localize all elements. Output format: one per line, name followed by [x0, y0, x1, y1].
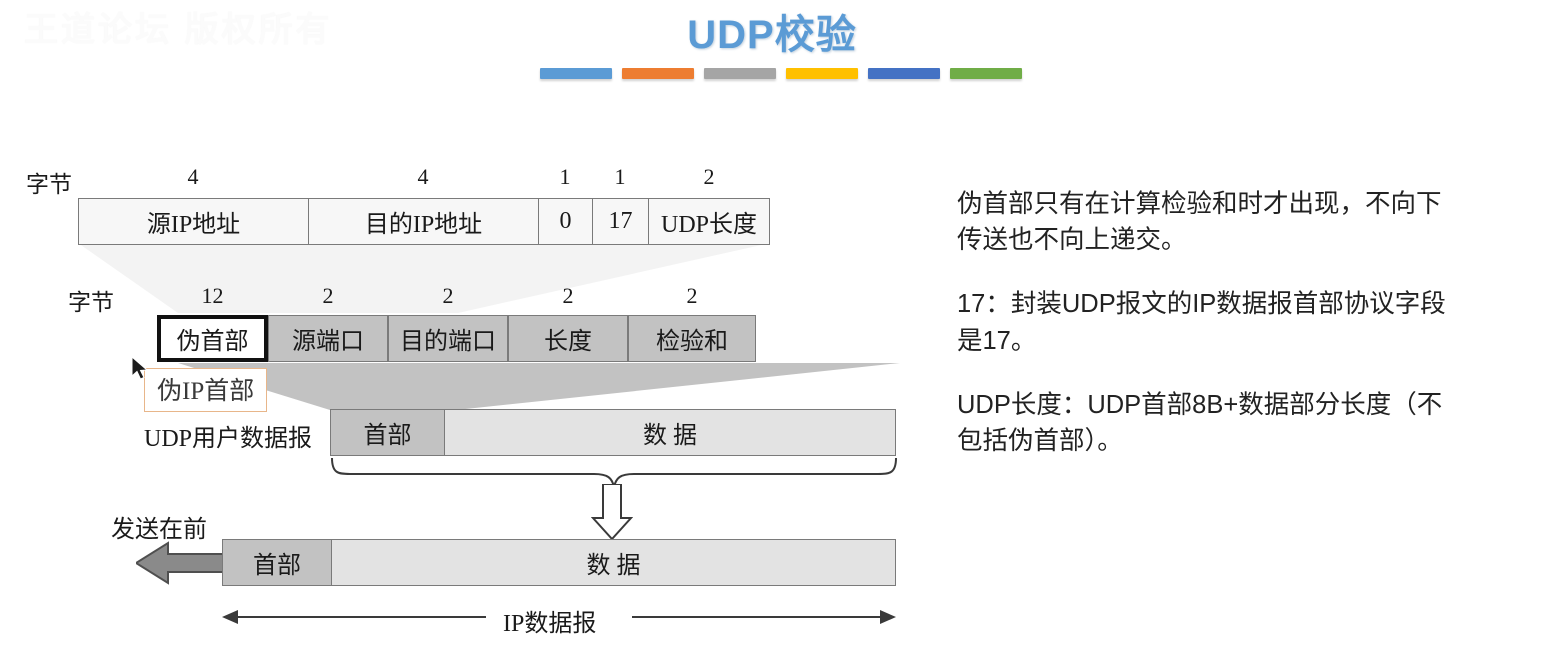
- pseudo-byte-count-2: 4: [308, 164, 538, 190]
- pseudo-cell-protocol-17: 17: [592, 198, 649, 245]
- udp-user-datagram-header-cell: 首部: [330, 409, 445, 456]
- notes-panel: 伪首部只有在计算检验和时才出现，不向下传送也不向上递交。 17：封装UDP报文的…: [957, 186, 1462, 459]
- udp-cell-pseudo-header[interactable]: 伪首部: [157, 315, 268, 362]
- pseudo-byte-count-1: 4: [78, 164, 308, 190]
- title-decorative-bars: [540, 68, 1022, 80]
- note-paragraph-2: 17：封装UDP报文的IP数据报首部协议字段是17。: [957, 286, 1462, 358]
- mouse-cursor-icon: [131, 356, 151, 384]
- pseudo-byte-count-4: 1: [592, 164, 648, 190]
- title-bar-4: [786, 68, 858, 79]
- pseudo-cell-dest-ip: 目的IP地址: [308, 198, 539, 245]
- pseudo-ip-header-tooltip: 伪IP首部: [144, 368, 267, 412]
- page-title: UDP校验: [0, 2, 1544, 60]
- title-bar-6: [950, 68, 1022, 79]
- ip-datagram-data-cell: 数 据: [331, 539, 896, 586]
- title-bar-1: [540, 68, 612, 79]
- udp-user-datagram-label: UDP用户数据报: [144, 418, 312, 453]
- down-arrow-icon: [591, 484, 633, 540]
- udp-byte-count-5: 2: [628, 283, 756, 309]
- udp-byte-count-2: 2: [268, 283, 388, 309]
- note-paragraph-1: 伪首部只有在计算检验和时才出现，不向下传送也不向上递交。: [957, 186, 1462, 258]
- slide-canvas: 王道论坛 版权所有 UDP校验 字节 4 4 1 1 2 源IP地址 目的IP地…: [0, 0, 1544, 668]
- udp-datagram-byte-label: 字节: [68, 283, 114, 317]
- udp-cell-length: 长度: [508, 315, 628, 362]
- ip-datagram-header-cell: 首部: [222, 539, 332, 586]
- udp-user-datagram-data-cell: 数 据: [444, 409, 896, 456]
- pseudo-header-byte-label: 字节: [26, 165, 72, 199]
- pseudo-cell-zero: 0: [538, 198, 593, 245]
- udp-byte-count-3: 2: [388, 283, 508, 309]
- funnel-udp-datagram: [178, 363, 918, 410]
- udp-cell-dest-port: 目的端口: [388, 315, 508, 362]
- udp-byte-count-4: 2: [508, 283, 628, 309]
- pseudo-cell-udp-length: UDP长度: [648, 198, 770, 245]
- udp-cell-checksum: 检验和: [628, 315, 756, 362]
- title-bar-2: [622, 68, 694, 79]
- title-bar-5: [868, 68, 940, 79]
- udp-cell-source-port: 源端口: [268, 315, 388, 362]
- send-direction-arrow-icon: [136, 539, 236, 587]
- ip-datagram-span-label: IP数据报: [503, 603, 596, 638]
- udp-byte-count-1: 12: [157, 283, 268, 309]
- pseudo-cell-source-ip: 源IP地址: [78, 198, 309, 245]
- pseudo-byte-count-5: 2: [648, 164, 770, 190]
- pseudo-byte-count-3: 1: [538, 164, 592, 190]
- note-paragraph-3: UDP长度：UDP首部8B+数据部分长度（不包括伪首部）。: [957, 387, 1462, 459]
- title-bar-3: [704, 68, 776, 79]
